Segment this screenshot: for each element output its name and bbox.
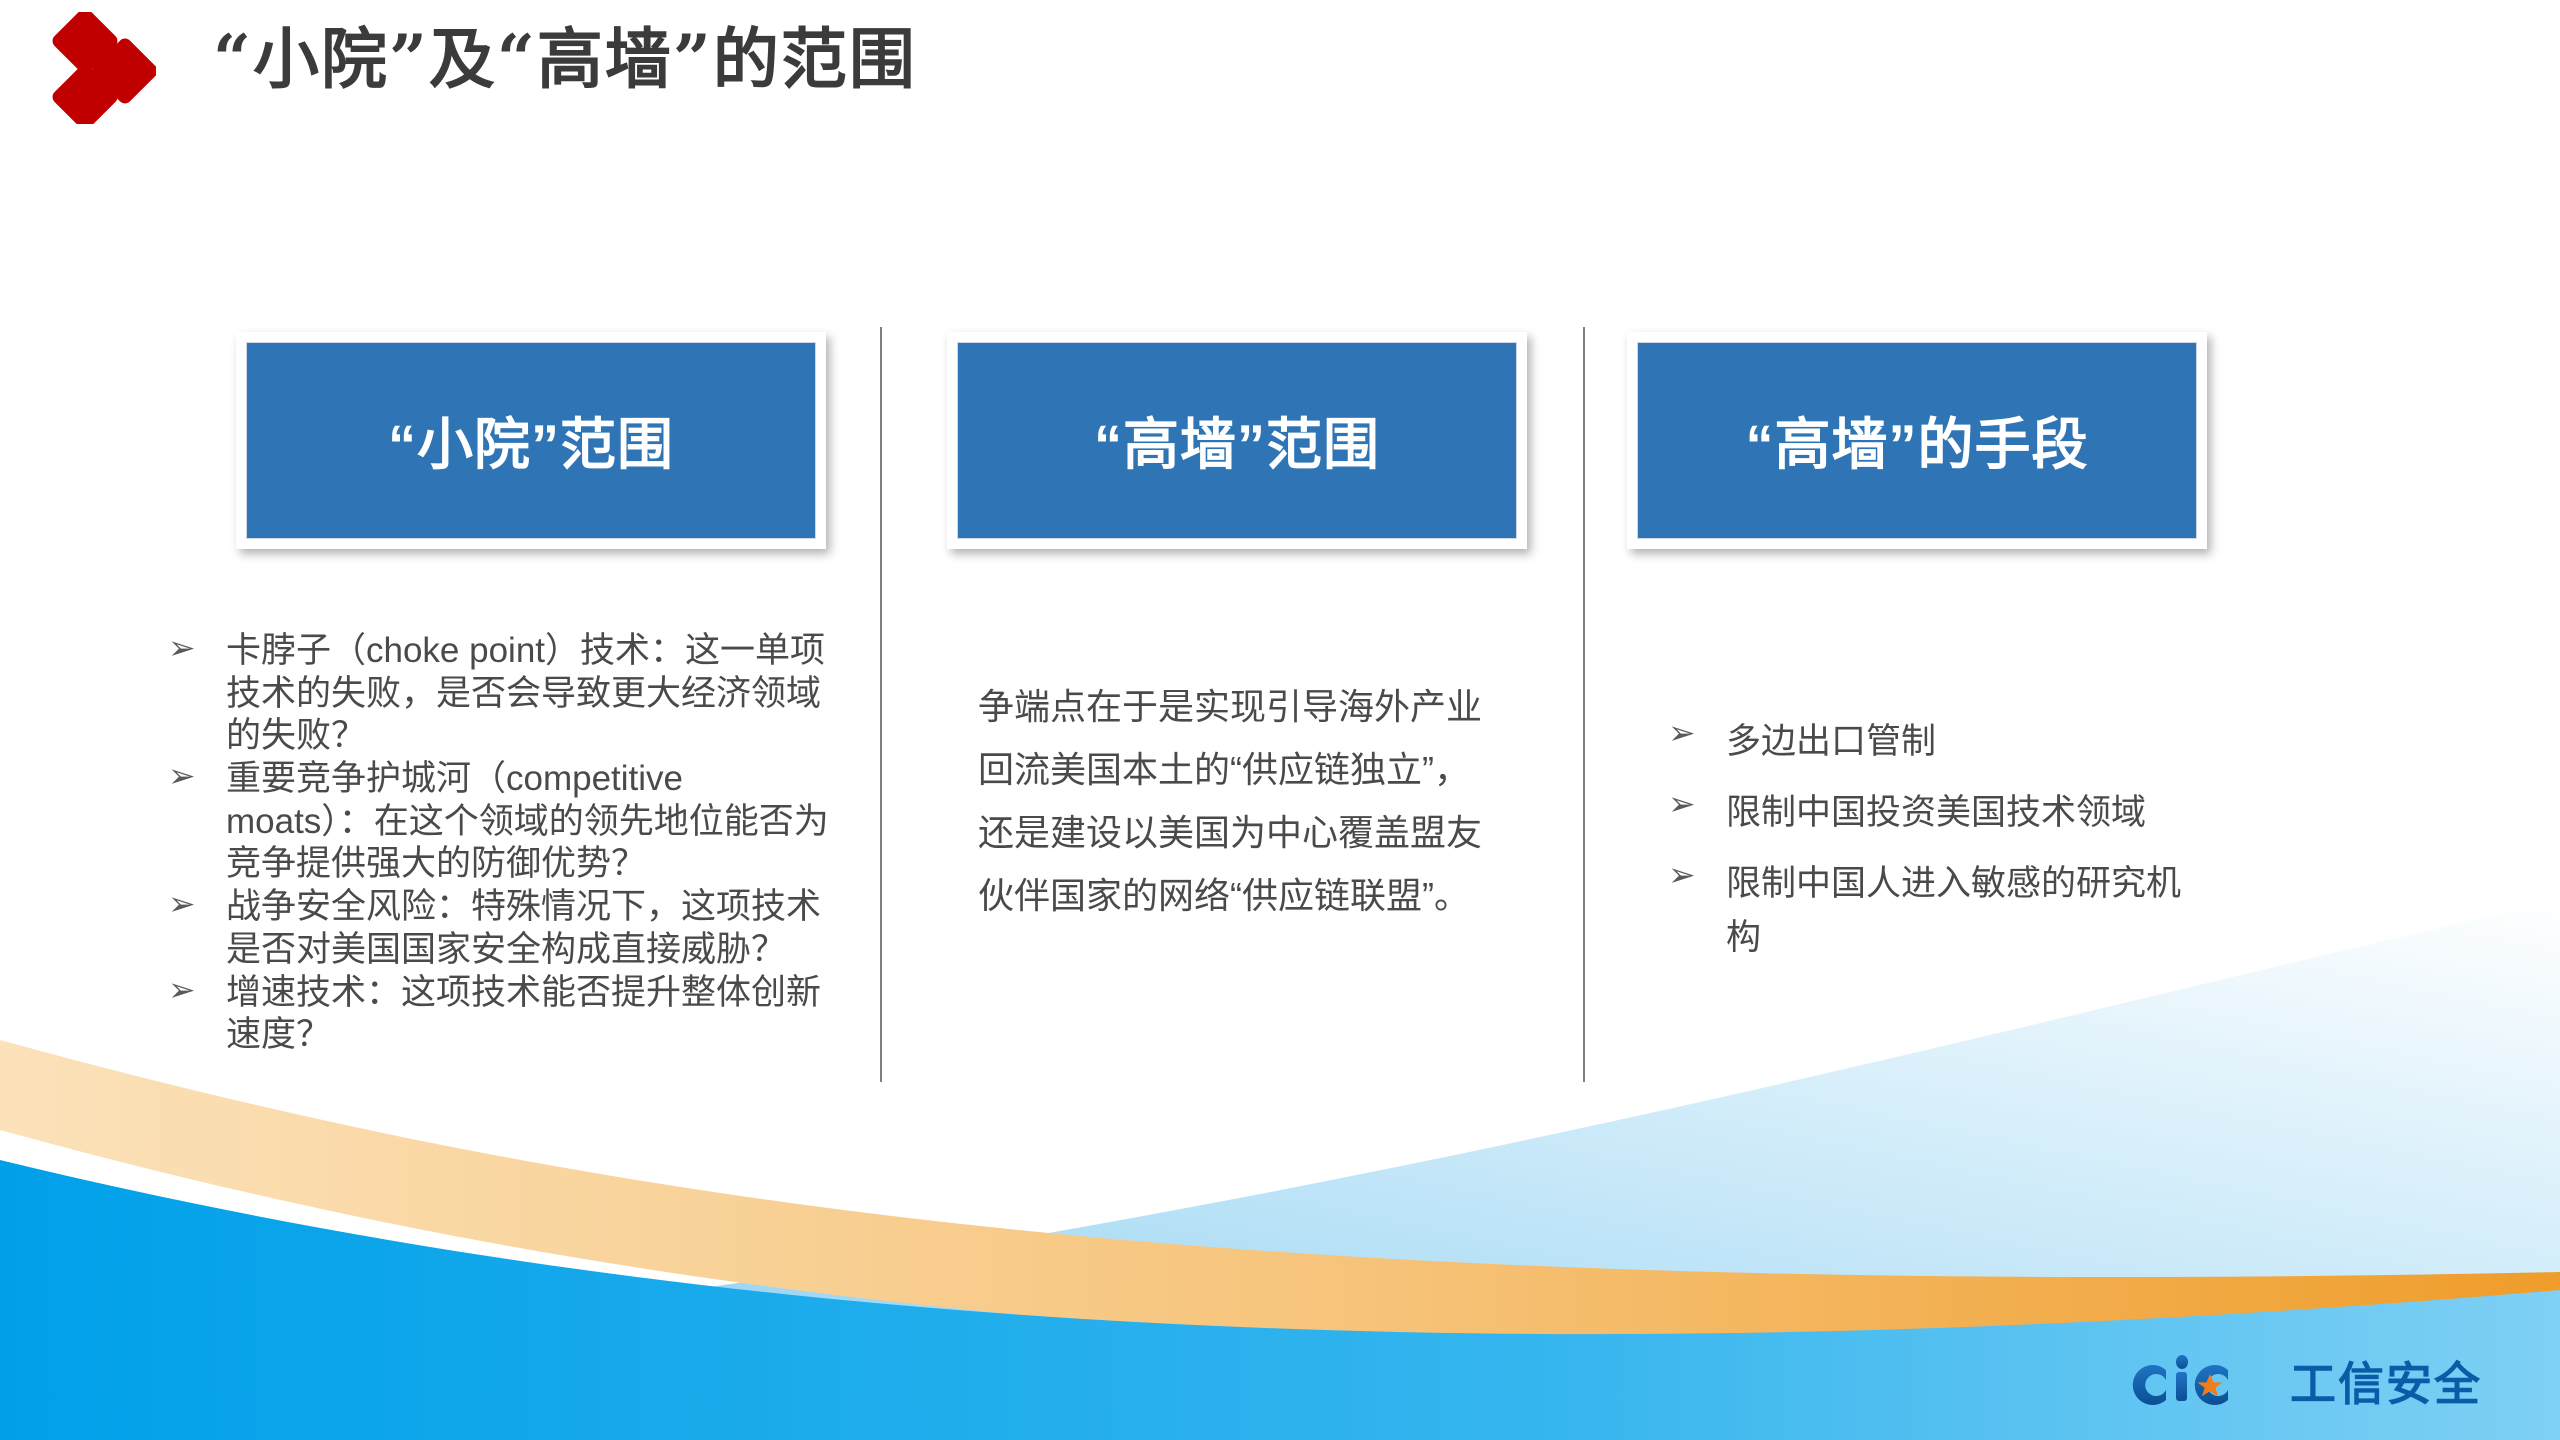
column-3-body: ➢ 多边出口管制 ➢ 限制中国投资美国技术领域 ➢ 限制中国人进入敏感的研究机构 (1660, 715, 2200, 982)
column-1-header-box: “小院”范围 (246, 342, 816, 539)
list-item: ➢ 重要竞争护城河（competitive moats）：在这个领域的领先地位能… (160, 758, 840, 886)
column-2-paragraph: 争端点在于是实现引导海外产业回流美国本土的“供应链独立”，还是建设以美国为中心覆… (978, 675, 1483, 927)
column-2-header-label: “高墙”范围 (1094, 400, 1380, 481)
bullet-arrow-icon: ➢ (1668, 784, 1696, 824)
list-item: ➢ 战争安全风险：特殊情况下，这项技术是否对美国国家安全构成直接威胁？ (160, 886, 840, 971)
list-item-text: 多边出口管制 (1726, 722, 1936, 761)
cic-logo-mark (2122, 1348, 2282, 1414)
list-item-text: 增速技术：这项技术能否提升整体创新速度？ (226, 973, 821, 1055)
column-divider-2 (1583, 327, 1585, 1082)
bullet-arrow-icon: ➢ (1668, 855, 1696, 895)
corporate-logo-name: 工信安全 (2290, 1348, 2482, 1414)
column-1-bullet-list: ➢ 卡脖子（choke point）技术：这一单项技术的失败，是否会导致更大经济… (160, 630, 840, 1057)
bullet-arrow-icon: ➢ (168, 884, 196, 924)
column-1-header-label: “小院”范围 (388, 400, 674, 481)
column-2-body: 争端点在于是实现引导海外产业回流美国本土的“供应链独立”，还是建设以美国为中心覆… (978, 675, 1483, 927)
bullet-arrow-icon: ➢ (168, 756, 196, 796)
list-item: ➢ 多边出口管制 (1660, 715, 2200, 768)
list-item: ➢ 限制中国投资美国技术领域 (1660, 786, 2200, 839)
column-divider-1 (880, 327, 882, 1082)
list-item: ➢ 卡脖子（choke point）技术：这一单项技术的失败，是否会导致更大经济… (160, 630, 840, 758)
bullet-arrow-icon: ➢ (168, 970, 196, 1010)
bullet-arrow-icon: ➢ (1668, 713, 1696, 753)
list-item: ➢ 限制中国人进入敏感的研究机构 (1660, 857, 2200, 963)
list-item-text: 重要竞争护城河（competitive moats）：在这个领域的领先地位能否为… (226, 759, 829, 883)
column-3-header-plaque[interactable]: “高墙”的手段 (1627, 332, 2207, 549)
list-item-text: 限制中国投资美国技术领域 (1726, 793, 2146, 832)
list-item-text: 卡脖子（choke point）技术：这一单项技术的失败，是否会导致更大经济领域… (226, 631, 825, 755)
bullet-arrow-icon: ➢ (168, 628, 196, 668)
list-item: ➢ 增速技术：这项技术能否提升整体创新速度？ (160, 972, 840, 1057)
column-2-header-plaque[interactable]: “高墙”范围 (947, 332, 1527, 549)
list-item-text: 限制中国人进入敏感的研究机构 (1726, 864, 2181, 956)
column-1-header-plaque[interactable]: “小院”范围 (236, 332, 826, 549)
column-1-body: ➢ 卡脖子（choke point）技术：这一单项技术的失败，是否会导致更大经济… (160, 630, 840, 1057)
list-item-text: 战争安全风险：特殊情况下，这项技术是否对美国国家安全构成直接威胁？ (226, 887, 821, 969)
column-3-bullet-list: ➢ 多边出口管制 ➢ 限制中国投资美国技术领域 ➢ 限制中国人进入敏感的研究机构 (1660, 715, 2200, 964)
column-3-header-label: “高墙”的手段 (1746, 400, 2089, 481)
column-2-header-box: “高墙”范围 (957, 342, 1517, 539)
content-columns: “小院”范围 “高墙”范围 “高墙”的手段 ➢ 卡脖子（choke point）… (0, 0, 2560, 1440)
slide-canvas: “小院”及“高墙”的范围 “小院”范围 “高墙”范围 “高墙”的手段 (0, 0, 2560, 1440)
corporate-logo: 工信安全 (2122, 1345, 2492, 1417)
column-3-header-box: “高墙”的手段 (1637, 342, 2197, 539)
